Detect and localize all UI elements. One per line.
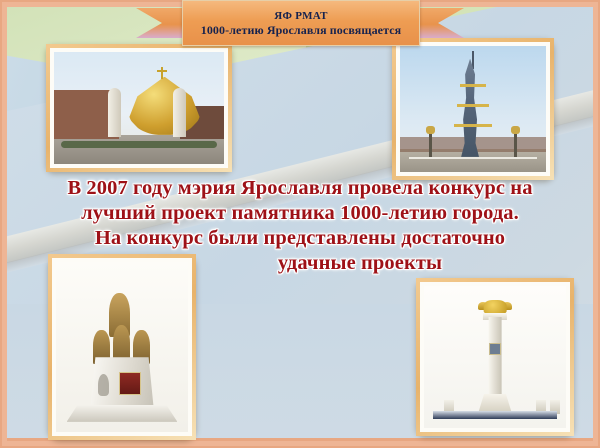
dome-arch-right	[173, 88, 186, 137]
photo-gothic-spire-monument	[392, 38, 554, 180]
headline-line-2: лучший проект памятника 1000-летию город…	[18, 201, 582, 226]
spire-lamp-right	[514, 132, 517, 157]
sculpture-coat-of-arms	[119, 372, 141, 394]
spire-gold-band-1	[460, 84, 486, 87]
column-shaft	[489, 317, 502, 397]
column-niche	[489, 343, 501, 355]
spire-gold-band-2	[457, 104, 489, 107]
headline-line-4: удачные проекты	[18, 251, 582, 276]
dedication-label: 1000-летию Ярославля посвящается	[201, 23, 402, 37]
dome-hedge	[61, 141, 217, 149]
dome-arch-left	[108, 88, 121, 137]
slide-headline: В 2007 году мэрия Ярославля провела конк…	[18, 176, 582, 276]
spire-gold-band-3	[454, 124, 492, 127]
presentation-slide: ЯФ РМАТ 1000-летию Ярославля посвящается	[0, 0, 600, 448]
photo-gothic-spire-image	[400, 46, 546, 172]
spire-railing	[409, 157, 537, 159]
photo-bronze-sculpture-monument	[48, 254, 196, 440]
photo-golden-dome-monument	[46, 44, 232, 172]
dome-cross-icon	[161, 67, 163, 79]
headline-line-1: В 2007 году мэрия Ярославля провела конк…	[18, 176, 582, 201]
title-ribbon: ЯФ РМАТ 1000-летию Ярославля посвящается	[136, 0, 464, 44]
ribbon-body: ЯФ РМАТ 1000-летию Ярославля посвящается	[182, 0, 420, 46]
photo-white-column-monument	[416, 278, 574, 436]
sculpture-base-platform	[67, 405, 178, 422]
photo-bronze-sculpture-image	[56, 262, 188, 432]
photo-golden-dome-image	[54, 52, 224, 164]
organization-label: ЯФ РМАТ	[274, 10, 327, 23]
photo-white-column-image	[424, 286, 566, 428]
sculpture-relief-panel	[98, 374, 109, 396]
headline-line-3: На конкурс были представлены достаточно	[18, 226, 582, 251]
column-plinth-platform	[433, 411, 558, 420]
spire-lamp-left	[429, 132, 432, 157]
